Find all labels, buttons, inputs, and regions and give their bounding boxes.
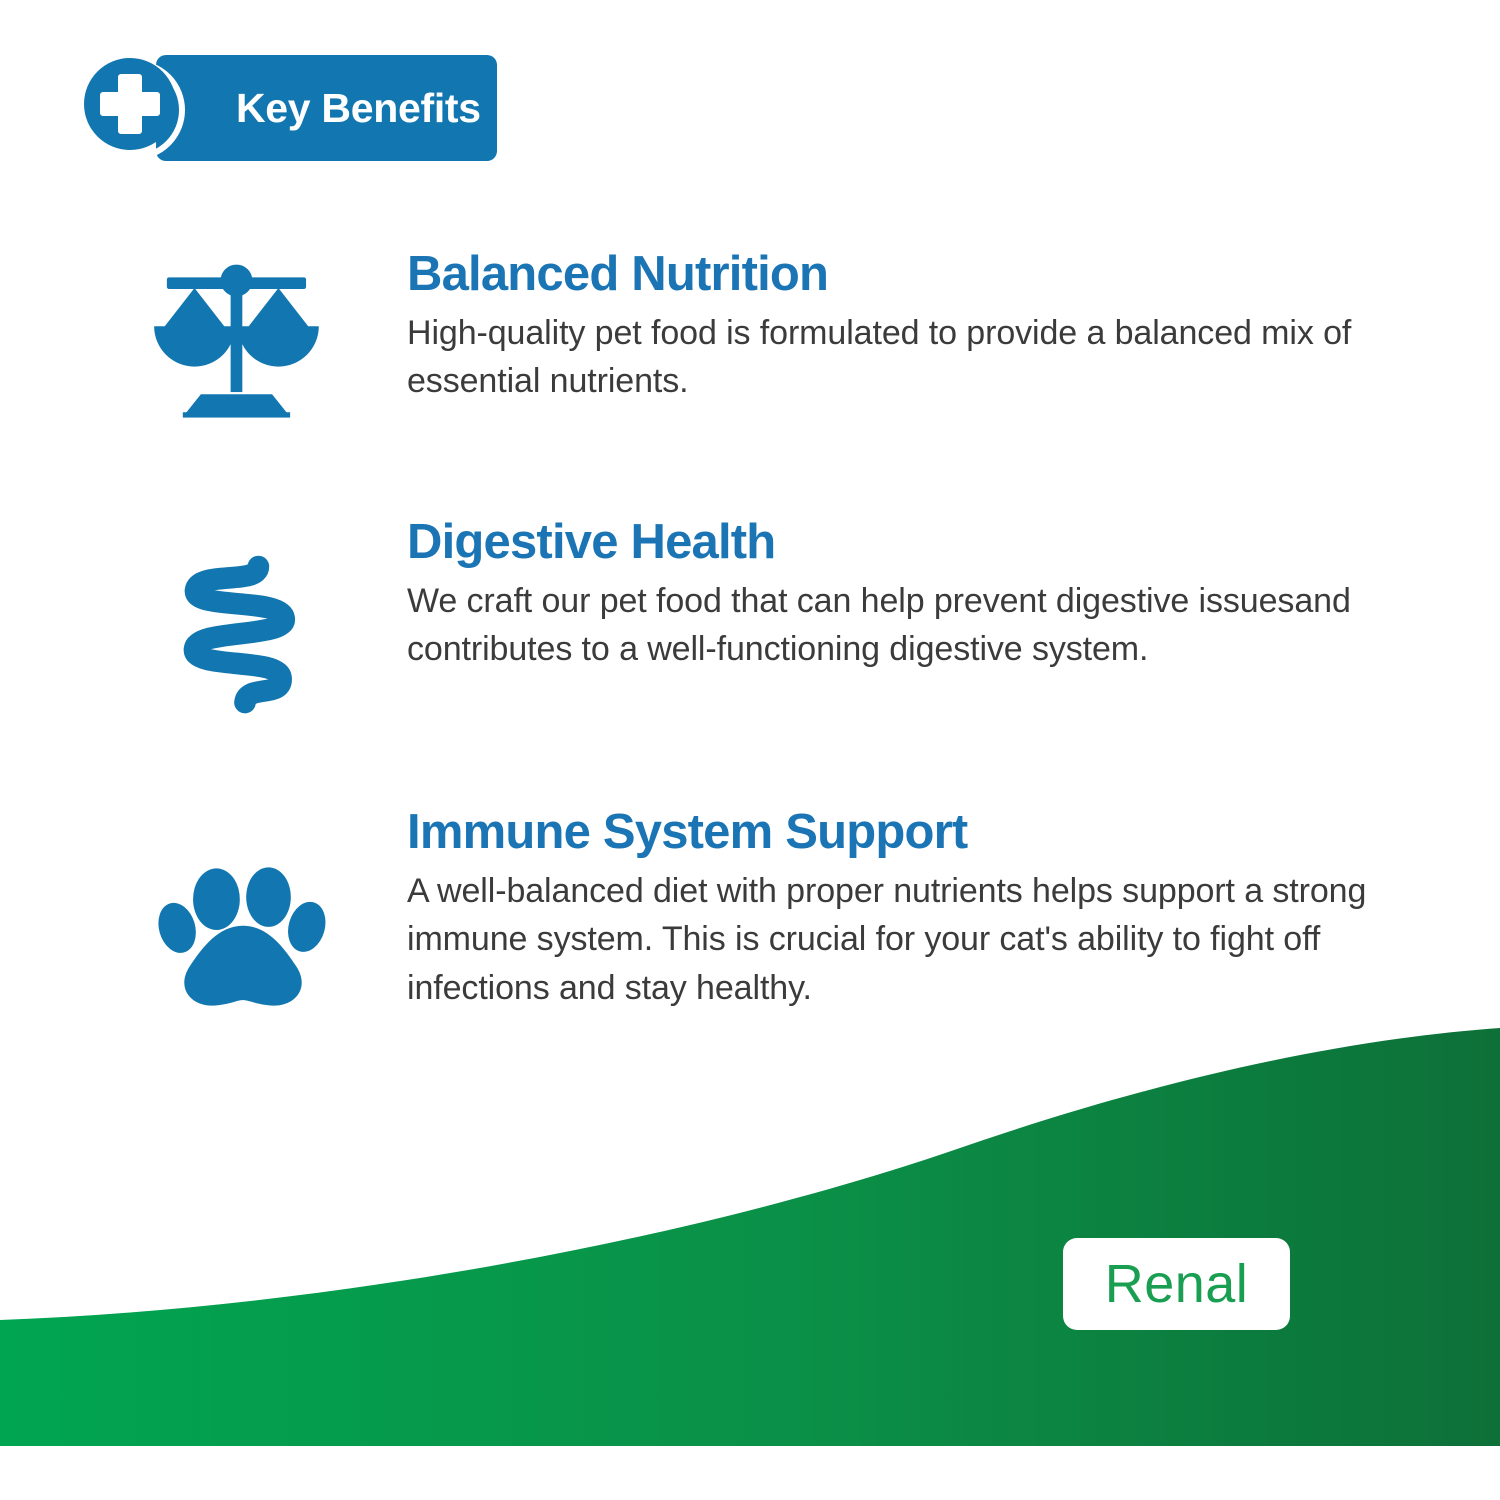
balance-scale-icon <box>152 255 322 425</box>
key-benefits-header: Key Benefits <box>0 0 520 190</box>
green-wave-footer <box>0 990 1500 1450</box>
benefit-text-block: Immune System Support A well-balanced di… <box>407 808 1367 1012</box>
benefit-heading: Digestive Health <box>407 518 1367 567</box>
renal-badge: Renal <box>1063 1238 1290 1330</box>
header-title: Key Benefits <box>236 55 506 161</box>
intestine-icon <box>160 548 330 718</box>
benefit-heading: Immune System Support <box>407 808 1367 857</box>
medical-cross-icon <box>84 58 176 150</box>
benefit-text-block: Digestive Health We craft our pet food t… <box>407 518 1367 674</box>
renal-badge-label: Renal <box>1063 1238 1290 1330</box>
benefit-heading: Balanced Nutrition <box>407 250 1367 299</box>
benefit-body: We craft our pet food that can help prev… <box>407 577 1367 674</box>
benefit-text-block: Balanced Nutrition High-quality pet food… <box>407 250 1367 406</box>
key-benefits-infographic: Key Benefits Balanced Nutrition <box>0 0 1500 1500</box>
benefit-body: High-quality pet food is formulated to p… <box>407 309 1367 406</box>
